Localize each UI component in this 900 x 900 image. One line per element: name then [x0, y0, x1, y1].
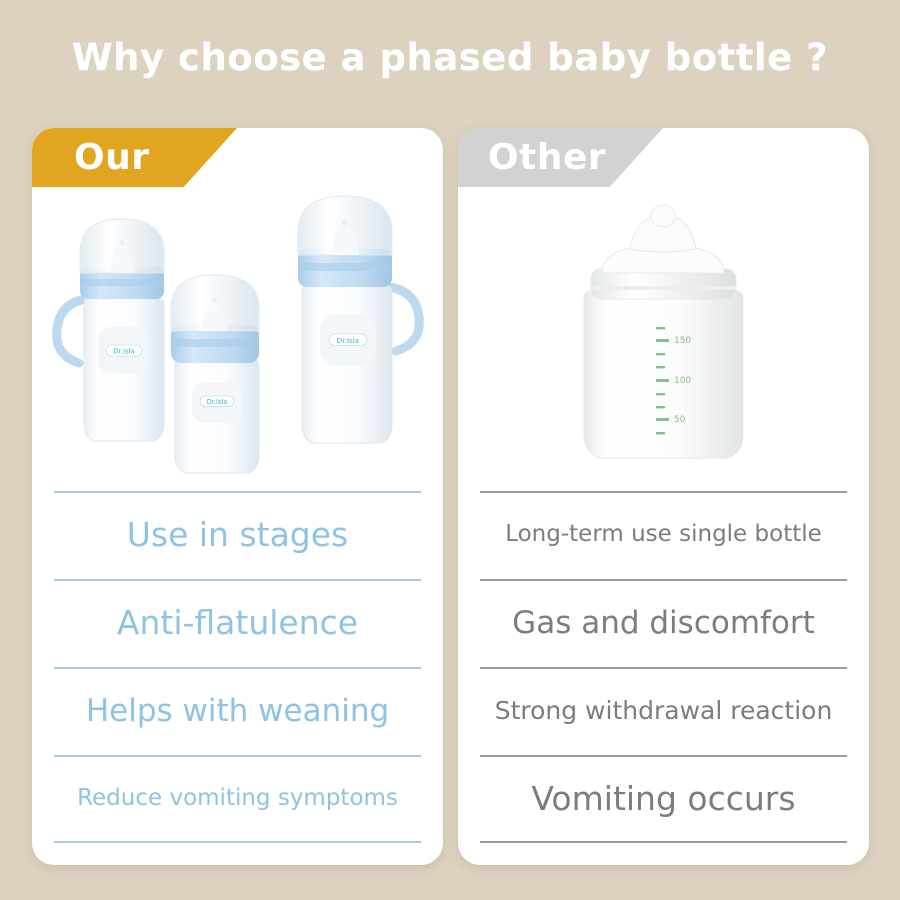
- bottle-large: Dr.Isla: [57, 219, 164, 441]
- feature-divider: [54, 667, 421, 669]
- feature-label: Gas and discomfort: [508, 606, 819, 640]
- brand-label-bottle-large: Dr.Isla: [113, 348, 135, 356]
- comparison-columns: Our: [0, 128, 900, 868]
- bottle-standard: 150 100 50: [584, 205, 743, 458]
- feature-label: Strong withdrawal reaction: [491, 697, 837, 725]
- feature-label: Vomiting occurs: [527, 781, 799, 817]
- feature-row: Long-term use single bottle: [480, 491, 847, 579]
- tab-our[interactable]: Our: [32, 128, 237, 187]
- tab-other-label: Other: [458, 140, 606, 176]
- feature-label: Anti-flatulence: [113, 605, 362, 641]
- feature-list-our: Use in stages Anti-flatulence Helps with…: [54, 491, 421, 843]
- feature-label: Reduce vomiting symptoms: [73, 786, 402, 811]
- comparison-card-other: Other: [458, 128, 869, 865]
- feature-label: Use in stages: [123, 517, 353, 553]
- brand-label-bottle-xlarge: Dr.Isla: [337, 336, 359, 345]
- feature-divider: [54, 755, 421, 757]
- feature-divider: [480, 579, 847, 581]
- product-image-other: 150 100 50: [458, 187, 869, 487]
- brand-label-bottle-small: Dr.Isla: [207, 398, 228, 406]
- marking-150: 150: [674, 336, 691, 346]
- feature-divider: [480, 667, 847, 669]
- feature-divider: [54, 579, 421, 581]
- tab-our-label: Our: [32, 140, 150, 176]
- feature-row: Strong withdrawal reaction: [480, 667, 847, 755]
- feature-row: Helps with weaning: [54, 667, 421, 755]
- feature-divider-last: [54, 841, 421, 843]
- product-image-our: Dr.Isla: [32, 187, 443, 487]
- feature-row: Anti-flatulence: [54, 579, 421, 667]
- tab-other[interactable]: Other: [458, 128, 663, 187]
- baby-bottle-set-illustration: Dr.Isla: [32, 187, 443, 487]
- marking-100: 100: [674, 376, 691, 386]
- feature-label: Long-term use single bottle: [501, 522, 826, 547]
- feature-divider: [54, 491, 421, 493]
- feature-divider-last: [480, 841, 847, 843]
- feature-divider: [480, 491, 847, 493]
- feature-row: Gas and discomfort: [480, 579, 847, 667]
- comparison-card-our: Our: [32, 128, 443, 865]
- feature-divider: [480, 755, 847, 757]
- feature-label: Helps with weaning: [82, 694, 393, 728]
- feature-row: Use in stages: [54, 491, 421, 579]
- standard-bottle-illustration: 150 100 50: [458, 187, 869, 487]
- bottle-small: Dr.Isla: [171, 275, 259, 473]
- feature-row: Reduce vomiting symptoms: [54, 755, 421, 843]
- feature-list-other: Long-term use single bottle Gas and disc…: [480, 491, 847, 843]
- page-title: Why choose a phased baby bottle ?: [0, 36, 900, 79]
- feature-row: Vomiting occurs: [480, 755, 847, 843]
- marking-50: 50: [674, 415, 686, 425]
- bottle-xlarge: Dr.Isla: [298, 196, 419, 443]
